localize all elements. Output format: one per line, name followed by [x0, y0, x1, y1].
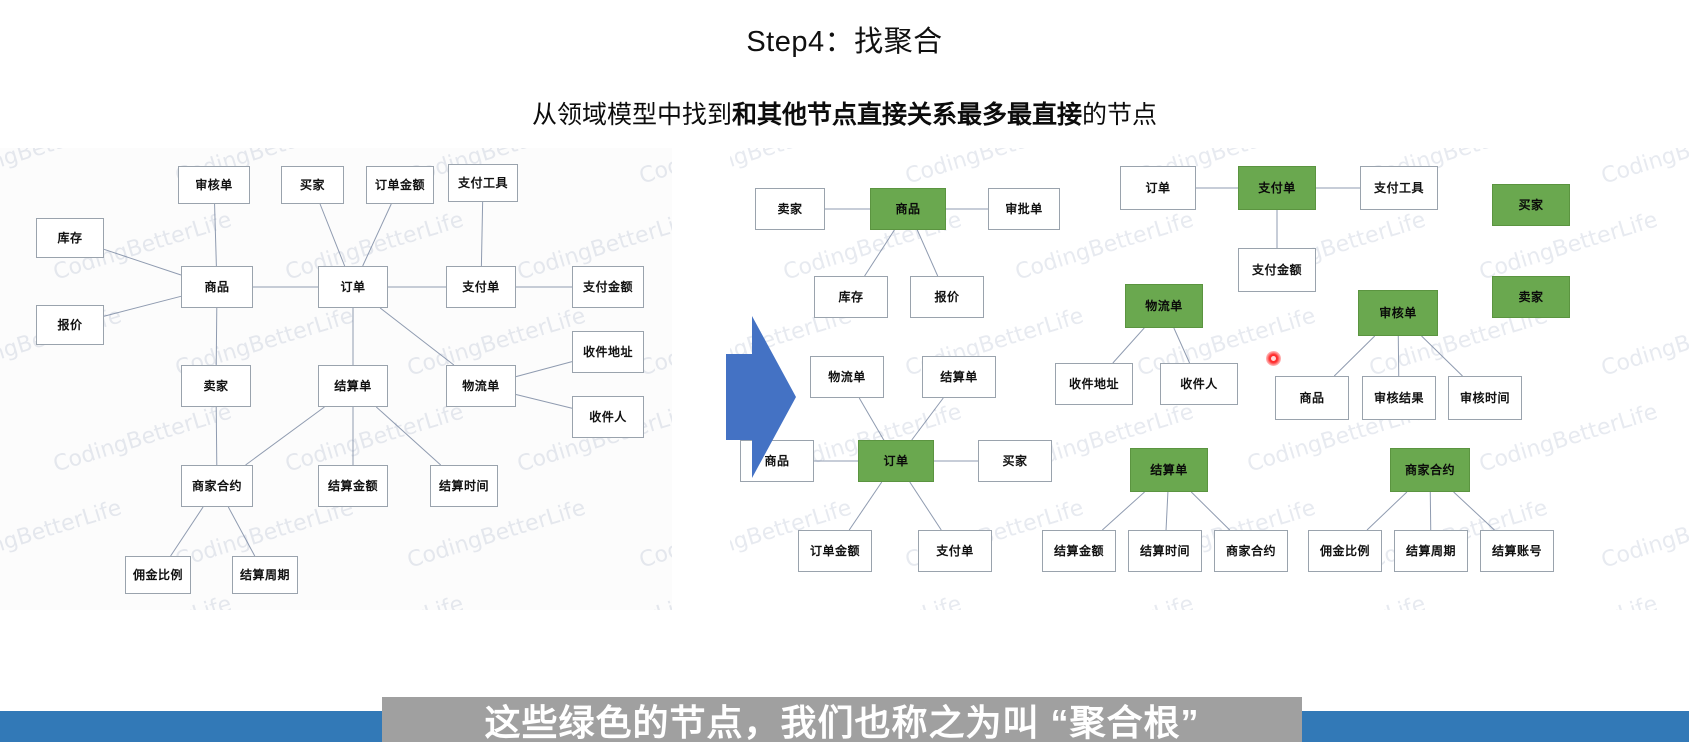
relationship-line	[1113, 328, 1144, 363]
entity-node-label: 结算账号	[1492, 545, 1542, 557]
entity-node[interactable]: 结算金额	[1042, 530, 1116, 572]
entity-node-label: 佣金比例	[1320, 545, 1370, 557]
caption-text: 这些绿色的节点，我们也称之为叫 “聚合根”	[382, 697, 1302, 742]
entity-node-label: 订单金额	[810, 545, 860, 557]
entity-node[interactable]: 结算账号	[1480, 530, 1554, 572]
aggregate-diagram-after: CodingBetterLifeCodingBetterLifeCodingBe…	[730, 148, 1689, 610]
entity-node[interactable]: 报价	[910, 276, 984, 318]
entity-node[interactable]: 审核单	[1358, 290, 1438, 336]
entity-node[interactable]: 结算单	[318, 365, 388, 407]
entity-node[interactable]: 支付金额	[1238, 248, 1316, 292]
watermark-text: CodingBetterLife	[1012, 592, 1196, 610]
entity-node[interactable]: 物流单	[1125, 284, 1203, 328]
entity-node[interactable]: 收件地址	[1055, 363, 1133, 405]
entity-node[interactable]: 支付单	[1238, 166, 1316, 210]
watermark-text: CodingBetterLife	[636, 496, 672, 574]
entity-node-label: 商品	[895, 203, 920, 215]
entity-node-label: 报价	[57, 319, 82, 331]
entity-node-label: 结算单	[940, 371, 978, 383]
relationship-line	[1422, 336, 1463, 376]
entity-node[interactable]: 审批单	[988, 188, 1060, 230]
page-subtitle: 从领域模型中找到和其他节点直接关系最多最直接的节点	[0, 95, 1689, 131]
domain-model-diagram-before: CodingBetterLifeCodingBetterLifeCodingBe…	[0, 148, 672, 610]
entity-node-label: 审核时间	[1460, 392, 1510, 404]
entity-node[interactable]: 结算单	[1130, 448, 1208, 492]
entity-node[interactable]: 收件人	[1160, 363, 1238, 405]
entity-node-label: 审核单	[195, 179, 233, 191]
entity-node-label: 物流单	[462, 380, 500, 392]
entity-node[interactable]: 结算金额	[318, 465, 388, 507]
entity-node-label: 订单	[340, 281, 365, 293]
entity-node-label: 结算金额	[328, 480, 378, 492]
slide-root: Step4：找聚合 从领域模型中找到和其他节点直接关系最多最直接的节点 Codi…	[0, 0, 1689, 742]
relationship-line	[104, 296, 181, 316]
entity-node[interactable]: 订单金额	[798, 530, 872, 572]
entity-node-label: 结算周期	[1406, 545, 1456, 557]
relationship-line	[859, 398, 884, 440]
watermark-text: CodingBetterLife	[1598, 148, 1689, 189]
entity-node[interactable]: 卖家	[755, 188, 825, 230]
entity-node-label: 支付工具	[1374, 182, 1424, 194]
relationship-line	[246, 407, 325, 465]
entity-node[interactable]: 买家	[1492, 184, 1570, 226]
entity-node[interactable]: 报价	[36, 305, 104, 345]
relationship-line	[320, 204, 345, 266]
entity-node-label: 物流单	[1145, 300, 1183, 312]
watermark-text: CodingBetterLife	[514, 592, 672, 610]
watermark-text: CodingBetterLife	[780, 592, 964, 610]
entity-node[interactable]: 库存	[36, 218, 104, 258]
cursor-pointer-icon	[1266, 351, 1281, 366]
entity-node[interactable]: 商品	[870, 188, 946, 230]
relationship-line	[1334, 336, 1374, 376]
entity-node-label: 结算周期	[240, 569, 290, 581]
entity-node[interactable]: 支付工具	[448, 164, 518, 202]
watermark-text: CodingBetterLife	[1598, 304, 1689, 382]
entity-node[interactable]: 物流单	[810, 356, 884, 398]
relationship-line	[865, 230, 895, 276]
watermark-text: CodingBetterLife	[1476, 592, 1660, 610]
entity-node-label: 审核结果	[1374, 392, 1424, 404]
entity-node[interactable]: 卖家	[181, 365, 251, 407]
entity-node[interactable]: 审核结果	[1362, 376, 1436, 420]
watermark-text: CodingBetterLife	[50, 592, 234, 610]
entity-node[interactable]: 物流单	[446, 365, 516, 407]
relationship-line	[917, 230, 937, 276]
entity-node[interactable]: 支付金额	[572, 266, 644, 308]
watermark-text: CodingBetterLife	[730, 592, 733, 610]
relationship-line	[171, 507, 203, 556]
relationship-line	[1191, 492, 1229, 530]
entity-node[interactable]: 买家	[978, 440, 1052, 482]
watermark-text: CodingBetterLife	[636, 148, 672, 189]
watermark-text: CodingBetterLife	[730, 208, 733, 286]
entity-node-label: 收件地址	[1069, 378, 1119, 390]
relationship-line	[849, 482, 882, 530]
transform-arrow-icon	[690, 312, 800, 482]
relationship-line	[1367, 492, 1407, 530]
entity-node[interactable]: 库存	[814, 276, 888, 318]
entity-node-label: 买家	[1518, 199, 1543, 211]
page-title: Step4：找聚合	[0, 18, 1689, 60]
entity-node[interactable]: 结算时间	[1128, 530, 1202, 572]
relationship-line	[376, 407, 440, 465]
entity-node[interactable]: 买家	[281, 166, 344, 204]
entity-node-label: 买家	[300, 179, 325, 191]
watermark-text: CodingBetterLife	[0, 592, 3, 610]
entity-node-label: 买家	[1002, 455, 1027, 467]
watermark-text: CodingBetterLife	[0, 208, 3, 286]
watermark-text: CodingBetterLife	[1244, 592, 1428, 610]
entity-node[interactable]: 支付单	[918, 530, 992, 572]
relationship-line	[1102, 492, 1144, 530]
entity-node-label: 卖家	[777, 203, 802, 215]
watermark-text: CodingBetterLife	[902, 148, 1086, 189]
entity-node-label: 物流单	[828, 371, 866, 383]
entity-node-label: 收件人	[1180, 378, 1218, 390]
watermark-text: CodingBetterLife	[0, 148, 125, 189]
entity-node[interactable]: 结算周期	[1394, 530, 1468, 572]
entity-node[interactable]: 审核时间	[1448, 376, 1522, 420]
subtitle-prefix: 从领域模型中找到	[532, 101, 732, 129]
entity-node[interactable]: 佣金比例	[1308, 530, 1382, 572]
entity-node[interactable]: 订单金额	[366, 166, 434, 204]
entity-node-label: 支付单	[462, 281, 500, 293]
entity-node-label: 结算金额	[1054, 545, 1104, 557]
entity-node-label: 佣金比例	[133, 569, 183, 581]
entity-node[interactable]: 结算单	[922, 356, 996, 398]
entity-node[interactable]: 订单	[1120, 166, 1196, 210]
relationship-line	[1454, 492, 1495, 530]
entity-node-label: 库存	[57, 232, 82, 244]
entity-node[interactable]: 收件地址	[572, 331, 644, 373]
relationship-line	[1166, 492, 1168, 530]
relationship-line	[104, 249, 181, 275]
relationship-line	[910, 482, 941, 530]
entity-node-label: 卖家	[1518, 291, 1543, 303]
entity-node-label: 卖家	[203, 380, 228, 392]
entity-node-label: 结算单	[334, 380, 372, 392]
watermark-text: CodingBetterLife	[0, 400, 3, 478]
watermark-text: CodingBetterLife	[1598, 496, 1689, 574]
entity-node[interactable]: 支付工具	[1360, 166, 1438, 210]
entity-node[interactable]: 佣金比例	[125, 556, 191, 594]
entity-node[interactable]: 收件人	[572, 396, 644, 438]
entity-node[interactable]: 商品	[181, 266, 253, 308]
relationship-line	[380, 308, 454, 365]
entity-node-label: 报价	[934, 291, 959, 303]
entity-node[interactable]: 支付单	[446, 266, 516, 308]
watermark-text: CodingBetterLife	[0, 496, 125, 574]
entity-node[interactable]: 商家合约	[1390, 448, 1470, 492]
entity-node-label: 库存	[838, 291, 863, 303]
watermark-text: CodingBetterLife	[730, 148, 855, 189]
entity-node[interactable]: 商家合约	[181, 465, 253, 507]
entity-node-label: 商家合约	[192, 480, 242, 492]
subtitle-emphasis: 和其他节点直接关系最多最直接	[732, 101, 1082, 129]
entity-node[interactable]: 订单	[318, 266, 388, 308]
relationship-line	[516, 362, 572, 377]
relationship-line	[1174, 328, 1190, 363]
entity-node-label: 支付金额	[583, 281, 633, 293]
watermark-text: CodingBetterLife	[404, 496, 588, 574]
entity-node-label: 商家合约	[1226, 545, 1276, 557]
entity-node-label: 支付单	[936, 545, 974, 557]
entity-node[interactable]: 订单	[858, 440, 934, 482]
entity-node[interactable]: 商品	[1275, 376, 1349, 420]
entity-node-label: 支付金额	[1252, 264, 1302, 276]
relationship-line	[516, 395, 572, 409]
relationship-line	[481, 202, 482, 266]
entity-node[interactable]: 结算周期	[232, 556, 298, 594]
relationship-line	[216, 308, 217, 365]
entity-node[interactable]: 结算时间	[430, 465, 498, 507]
entity-node-label: 商品	[1299, 392, 1324, 404]
entity-node[interactable]: 审核单	[178, 166, 250, 204]
entity-node[interactable]: 商家合约	[1214, 530, 1288, 572]
entity-node-label: 商家合约	[1405, 464, 1455, 476]
relationship-line	[216, 407, 217, 465]
relationship-line	[912, 398, 944, 440]
entity-node-label: 收件地址	[583, 346, 633, 358]
entity-node-label: 订单金额	[375, 179, 425, 191]
entity-node-label: 结算时间	[439, 480, 489, 492]
entity-node-label: 支付单	[1258, 182, 1296, 194]
subtitle-suffix: 的节点	[1082, 101, 1157, 129]
entity-node[interactable]: 卖家	[1492, 276, 1570, 318]
entity-node-label: 订单	[1145, 182, 1170, 194]
entity-node-label: 审批单	[1005, 203, 1043, 215]
entity-node-label: 收件人	[589, 411, 627, 423]
entity-node-label: 支付工具	[458, 177, 508, 189]
entity-node-label: 订单	[883, 455, 908, 467]
relationship-line	[215, 204, 217, 266]
entity-node-label: 结算时间	[1140, 545, 1190, 557]
entity-node-label: 结算单	[1150, 464, 1188, 476]
entity-node-label: 审核单	[1379, 307, 1417, 319]
relationship-line	[363, 204, 392, 266]
relationship-line	[228, 507, 254, 556]
watermark-text: CodingBetterLife	[282, 592, 466, 610]
entity-node-label: 商品	[204, 281, 229, 293]
